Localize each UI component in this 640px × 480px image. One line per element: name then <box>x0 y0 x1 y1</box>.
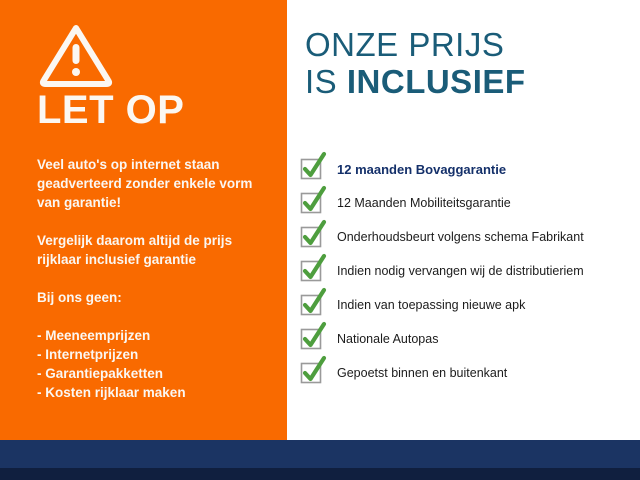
checklist-item-label: Indien van toepassing nieuwe apk <box>337 298 525 313</box>
checklist-item-label: Onderhoudsbeurt volgens schema Fabrikant <box>337 230 584 245</box>
checkbox-checked-icon <box>301 294 323 316</box>
checklist-item-label: 12 Maanden Mobiliteitsgarantie <box>337 196 511 211</box>
checkbox-checked-icon <box>301 362 323 384</box>
checklist-item: Nationale Autopas <box>301 322 637 356</box>
checklist-item: Gepoetst binnen en buitenkant <box>301 356 637 390</box>
headline-line-2-regular: IS <box>305 63 347 100</box>
headline-line-2: IS INCLUSIEF <box>305 63 526 100</box>
footer-bar-shadow <box>0 468 640 480</box>
exclusion-item-4: - Kosten rijklaar maken <box>37 383 277 402</box>
warning-paragraph-2: Vergelijk daarom altijd de prijs rijklaa… <box>37 231 277 269</box>
checkbox-checked-icon <box>301 260 323 282</box>
headline-line-2-bold: INCLUSIEF <box>347 63 526 100</box>
checklist-item: Onderhoudsbeurt volgens schema Fabrikant <box>301 220 637 254</box>
footer-bar <box>0 440 640 468</box>
checkbox-checked-icon <box>301 226 323 248</box>
inclusive-price-panel: ONZE PRIJS IS INCLUSIEF 12 maanden Bovag… <box>287 0 640 440</box>
page-title: LET OP <box>37 90 184 130</box>
checklist-item-label: 12 maanden Bovaggarantie <box>337 162 506 177</box>
checklist-item-label: Nationale Autopas <box>337 332 438 347</box>
checklist-item-label: Gepoetst binnen en buitenkant <box>337 366 507 381</box>
checklist-item: Indien nodig vervangen wij de distributi… <box>301 254 637 288</box>
checklist-item: 12 maanden Bovaggarantie <box>301 152 637 186</box>
checklist-item: 12 Maanden Mobiliteitsgarantie <box>301 186 637 220</box>
warning-triangle-icon <box>38 22 114 88</box>
warning-paragraph-1: Veel auto's op internet staan geadvertee… <box>37 155 277 212</box>
exclusion-item-3: - Garantiepakketten <box>37 364 277 383</box>
checklist-item: Indien van toepassing nieuwe apk <box>301 288 637 322</box>
checkbox-checked-icon <box>301 192 323 214</box>
promo-poster: LET OP Veel auto's op internet staan gea… <box>0 0 640 480</box>
headline: ONZE PRIJS IS INCLUSIEF <box>305 26 526 100</box>
warning-body-text: Veel auto's op internet staan geadvertee… <box>37 155 277 402</box>
warning-panel: LET OP Veel auto's op internet staan gea… <box>0 0 287 440</box>
headline-line-1: ONZE PRIJS <box>305 26 526 63</box>
exclusion-item-1: - Meeneemprijzen <box>37 326 277 345</box>
warning-paragraph-3: Bij ons geen: <box>37 288 277 307</box>
checklist-item-label: Indien nodig vervangen wij de distributi… <box>337 264 584 279</box>
exclusion-item-2: - Internetprijzen <box>37 345 277 364</box>
inclusions-checklist: 12 maanden Bovaggarantie 12 Maanden Mobi… <box>301 152 637 390</box>
checkbox-checked-icon <box>301 158 323 180</box>
checkbox-checked-icon <box>301 328 323 350</box>
